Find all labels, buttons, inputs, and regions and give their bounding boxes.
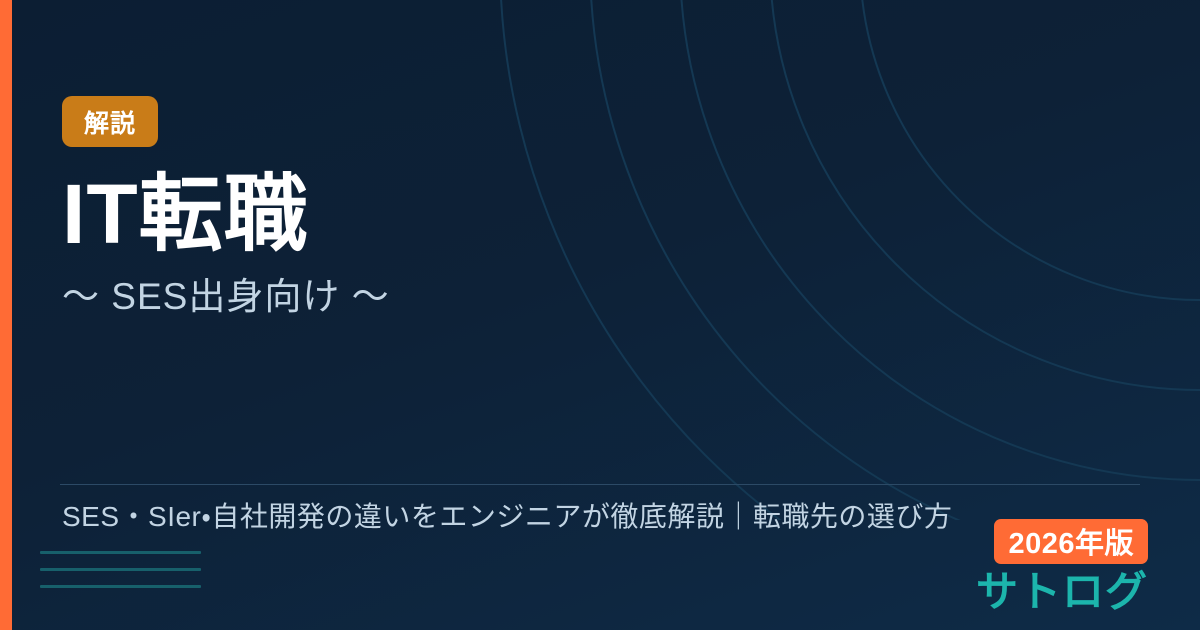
footer-divider xyxy=(60,484,1140,485)
footer-description: SES・SIer・自社開発の違いをエンジニアが徹底解説｜転職先の選び方 xyxy=(62,498,972,536)
arc-ring-4 xyxy=(590,0,1200,520)
page-subtitle: 〜 SES出身向け 〜 xyxy=(62,278,390,315)
decorative-line-1 xyxy=(40,551,201,554)
category-badge: 解説 xyxy=(62,96,158,147)
brand-name: サトログ xyxy=(976,570,1148,614)
brand-cluster: 2026年版 サトログ xyxy=(976,519,1148,614)
edition-badge: 2026年版 xyxy=(994,519,1148,564)
arc-ring-1 xyxy=(860,0,1200,300)
arc-ring-3 xyxy=(680,0,1200,480)
left-accent-stripe xyxy=(0,0,12,630)
concentric-arcs-decoration xyxy=(480,0,1200,520)
arc-ring-2 xyxy=(770,0,1200,390)
decorative-lines xyxy=(40,551,201,588)
decorative-line-2 xyxy=(40,568,201,571)
page-title: IT転職 xyxy=(62,172,390,256)
decorative-line-3 xyxy=(40,585,201,588)
arc-ring-5 xyxy=(500,0,1200,520)
headline-group: IT転職 〜 SES出身向け 〜 xyxy=(62,172,390,315)
ogp-card: 解説 IT転職 〜 SES出身向け 〜 SES・SIer・自社開発の違いをエンジ… xyxy=(0,0,1200,630)
